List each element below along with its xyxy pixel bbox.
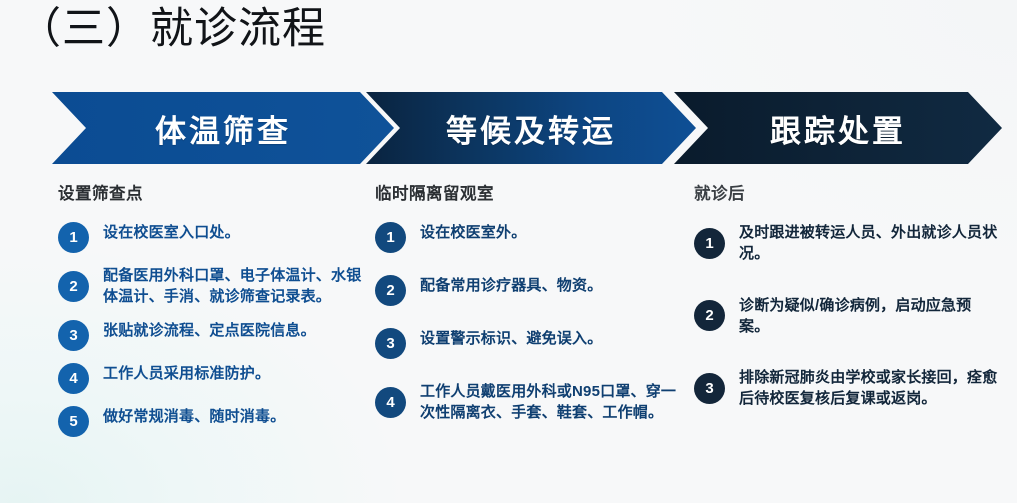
list-item-text: 配备医用外科口罩、电子体温计、水银体温计、手消、就诊筛查记录表。 — [103, 265, 363, 308]
list-item-text: 工作人员戴医用外科或N95口罩、穿一次性隔离衣、手套、鞋套、工作帽。 — [420, 381, 685, 424]
list-item[interactable]: 4 工作人员采用标准防护。 — [58, 363, 363, 394]
list-item[interactable]: 1 及时跟进被转运人员、外出就诊人员状况。 — [694, 222, 999, 265]
detail-column-3: 就诊后 1 及时跟进被转运人员、外出就诊人员状况。 2 诊断为疑似/确诊病例，启… — [694, 180, 999, 422]
list-item[interactable]: 2 配备常用诊疗器具、物资。 — [375, 275, 685, 306]
stage-detail-columns: 设置筛查点 1 设在校医室入口处。 2 配备医用外科口罩、电子体温计、水银体温计… — [0, 180, 1017, 503]
page-title: （三）就诊流程 — [18, 4, 326, 56]
list-item[interactable]: 3 设置警示标识、避免误入。 — [375, 328, 685, 359]
list-item-text: 工作人员采用标准防护。 — [103, 363, 270, 384]
list-item-number-badge: 3 — [375, 328, 406, 359]
list-item-number-badge: 3 — [58, 320, 89, 351]
list-item-number-badge: 2 — [375, 275, 406, 306]
list-item[interactable]: 1 设在校医室入口处。 — [58, 222, 363, 253]
list-item[interactable]: 3 张贴就诊流程、定点医院信息。 — [58, 320, 363, 351]
slide-canvas: （三）就诊流程 体温筛查 等候及转运 跟踪处置 设置筛查点 1 设在校医室入口处… — [0, 0, 1017, 503]
list-item-number-badge: 1 — [694, 228, 725, 259]
list-item-text: 及时跟进被转运人员、外出就诊人员状况。 — [739, 222, 999, 265]
list-item-number-badge: 5 — [58, 406, 89, 437]
list-item-text: 张贴就诊流程、定点医院信息。 — [103, 320, 316, 341]
list-item-text: 设置警示标识、避免误入。 — [420, 328, 602, 349]
list-item-number-badge: 4 — [375, 387, 406, 418]
stage-chevron-2-label: 等候及转运 — [446, 106, 616, 151]
list-item-number-badge: 2 — [58, 271, 89, 302]
list-item-number-badge: 4 — [58, 363, 89, 394]
detail-column-2-heading: 临时隔离留观室 — [375, 180, 685, 204]
detail-column-2: 临时隔离留观室 1 设在校医室外。 2 配备常用诊疗器具、物资。 3 设置警示标… — [375, 180, 685, 436]
list-item[interactable]: 4 工作人员戴医用外科或N95口罩、穿一次性隔离衣、手套、鞋套、工作帽。 — [375, 381, 685, 424]
stage-chevron-3[interactable]: 跟踪处置 — [674, 92, 1002, 164]
list-item-text: 做好常规消毒、随时消毒。 — [103, 406, 285, 427]
stage-chevron-3-label: 跟踪处置 — [770, 106, 906, 151]
list-item-text: 设在校医室外。 — [420, 222, 526, 243]
list-item[interactable]: 3 排除新冠肺炎由学校或家长接回，痊愈后待校医复核后复课或返岗。 — [694, 367, 999, 410]
stage-chevron-2[interactable]: 等候及转运 — [366, 92, 696, 164]
detail-column-3-heading: 就诊后 — [694, 180, 999, 204]
list-item[interactable]: 2 配备医用外科口罩、电子体温计、水银体温计、手消、就诊筛查记录表。 — [58, 265, 363, 308]
detail-column-3-list: 1 及时跟进被转运人员、外出就诊人员状况。 2 诊断为疑似/确诊病例，启动应急预… — [694, 222, 999, 410]
stage-chevron-1[interactable]: 体温筛查 — [52, 92, 394, 164]
detail-column-1: 设置筛查点 1 设在校医室入口处。 2 配备医用外科口罩、电子体温计、水银体温计… — [58, 180, 363, 449]
process-chevron-band: 体温筛查 等候及转运 跟踪处置 — [52, 92, 1002, 164]
list-item[interactable]: 2 诊断为疑似/确诊病例，启动应急预案。 — [694, 295, 999, 338]
list-item-text: 排除新冠肺炎由学校或家长接回，痊愈后待校医复核后复课或返岗。 — [739, 367, 999, 410]
detail-column-2-list: 1 设在校医室外。 2 配备常用诊疗器具、物资。 3 设置警示标识、避免误入。 … — [375, 222, 685, 424]
list-item-text: 配备常用诊疗器具、物资。 — [420, 275, 602, 296]
detail-column-1-list: 1 设在校医室入口处。 2 配备医用外科口罩、电子体温计、水银体温计、手消、就诊… — [58, 222, 363, 437]
list-item-number-badge: 3 — [694, 373, 725, 404]
list-item-text: 设在校医室入口处。 — [103, 222, 240, 243]
list-item-number-badge: 1 — [375, 222, 406, 253]
list-item-number-badge: 2 — [694, 300, 725, 331]
list-item-number-badge: 1 — [58, 222, 89, 253]
list-item[interactable]: 1 设在校医室外。 — [375, 222, 685, 253]
list-item[interactable]: 5 做好常规消毒、随时消毒。 — [58, 406, 363, 437]
stage-chevron-1-label: 体温筛查 — [155, 106, 291, 151]
detail-column-1-heading: 设置筛查点 — [58, 180, 363, 204]
list-item-text: 诊断为疑似/确诊病例，启动应急预案。 — [739, 295, 999, 338]
